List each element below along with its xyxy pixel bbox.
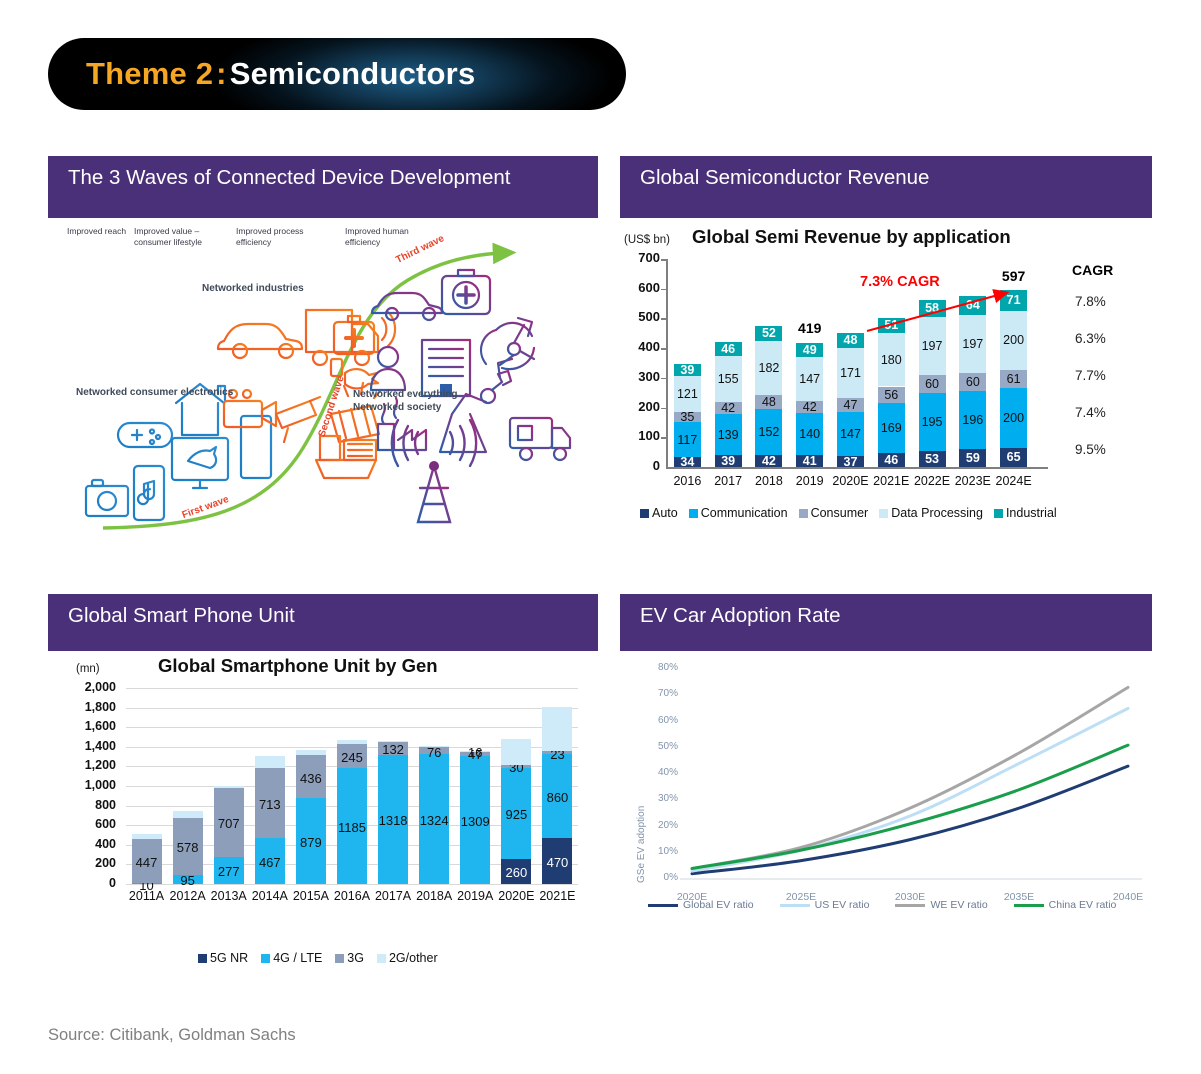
phone-seg-label-2016A-2: 245 bbox=[330, 750, 374, 765]
title-colon: : bbox=[213, 56, 230, 91]
phone-ytick-0: 0 bbox=[60, 876, 116, 890]
phone-legend-label-3: 2G/other bbox=[389, 951, 438, 965]
phone-seg-label-2014A-2: 713 bbox=[248, 797, 292, 812]
semi-legend-item-3: Data Processing bbox=[879, 506, 983, 520]
phone-legend-swatch-1 bbox=[261, 954, 270, 963]
title-theme: Theme 2 bbox=[86, 56, 213, 91]
semi-chart: (US$ bn) Global Semi Revenue by applicat… bbox=[620, 218, 1152, 548]
ev-legend-item-1: US EV ratio bbox=[780, 899, 870, 911]
phone-seg-label-2017A-1: 1318 bbox=[371, 813, 415, 828]
wave-caption-0: Improved reach bbox=[67, 226, 129, 237]
semi-legend-label-1: Communication bbox=[701, 506, 788, 520]
ev-legend-swatch-3 bbox=[1014, 904, 1044, 907]
phone-seg-2015A-3[interactable] bbox=[296, 750, 326, 755]
semi-legend-item-4: Industrial bbox=[994, 506, 1057, 520]
ev-line-1 bbox=[692, 708, 1128, 871]
semi-cagr-value-2: 7.7% bbox=[1075, 368, 1106, 383]
phone-legend-swatch-3 bbox=[377, 954, 386, 963]
wave-caption-2: Improved process efficiency bbox=[236, 226, 316, 248]
phone-seg-2016A-3[interactable] bbox=[337, 740, 367, 743]
ev-legend-swatch-1 bbox=[780, 904, 810, 907]
phone-bar-2020E[interactable]: 26092530 bbox=[501, 688, 531, 884]
ev-line-2 bbox=[692, 687, 1128, 868]
phone-ytick-7: 1,400 bbox=[60, 739, 116, 753]
semi-legend-label-0: Auto bbox=[652, 506, 678, 520]
panel-phone-header: Global Smart Phone Unit bbox=[48, 594, 598, 651]
phone-seg-2014A-3[interactable] bbox=[255, 756, 285, 769]
panel-waves: The 3 Waves of Connected Device Developm… bbox=[48, 156, 598, 558]
panel-semi-header: Global Semiconductor Revenue bbox=[620, 156, 1152, 218]
phone-ytick-6: 1,200 bbox=[60, 758, 116, 772]
page-title: Theme 2:Semiconductors bbox=[86, 56, 475, 92]
phone-bar-2013A[interactable]: 277707 bbox=[214, 688, 244, 884]
phone-bar-2016A[interactable]: 1185245 bbox=[337, 688, 367, 884]
panel-ev-header: EV Car Adoption Rate bbox=[620, 594, 1152, 651]
phone-legend-label-0: 5G NR bbox=[210, 951, 248, 965]
phone-seg-label-2018A-1: 1324 bbox=[412, 813, 456, 828]
phone-seg-label-2012A-2: 578 bbox=[166, 840, 210, 855]
wave-group-label-0: Networked consumer electronics bbox=[76, 386, 233, 399]
title-subject: Semiconductors bbox=[230, 56, 476, 91]
phone-bar-2018A[interactable]: 132476 bbox=[419, 688, 449, 884]
phone-bar-2019A[interactable]: 13094716 bbox=[460, 688, 490, 884]
phone-seg-label-2013A-1: 277 bbox=[207, 864, 251, 879]
ev-legend-item-2: WE EV ratio bbox=[895, 899, 987, 911]
phone-seg-label-2011A-2: 447 bbox=[125, 855, 169, 870]
semi-total-2024E: 597 bbox=[992, 268, 1035, 284]
semi-legend-label-2: Consumer bbox=[811, 506, 869, 520]
semi-cagr-annotation: 7.3% CAGR bbox=[860, 274, 940, 290]
phone-bar-2015A[interactable]: 879436 bbox=[296, 688, 326, 884]
phone-seg-label-2020E-0: 260 bbox=[494, 865, 538, 880]
semi-legend-label-3: Data Processing bbox=[891, 506, 983, 520]
waves-diagram: Improved reach Improved value – consumer… bbox=[48, 218, 598, 558]
phone-legend-item-2: 3G bbox=[335, 951, 364, 965]
ev-legend-label-3: China EV ratio bbox=[1049, 899, 1117, 911]
phone-legend-swatch-2 bbox=[335, 954, 344, 963]
phone-unit-label: (mn) bbox=[76, 663, 100, 675]
phone-bar-2011A[interactable]: 10447 bbox=[132, 688, 162, 884]
phone-seg-2013A-3[interactable] bbox=[214, 786, 244, 788]
phone-ytick-5: 1,000 bbox=[60, 778, 116, 792]
semi-cagr-value-3: 7.4% bbox=[1075, 405, 1106, 420]
ev-legend-label-1: US EV ratio bbox=[815, 899, 870, 911]
phone-seg-2011A-3[interactable] bbox=[132, 834, 162, 839]
ev-legend-label-2: WE EV ratio bbox=[930, 899, 987, 911]
source-note: Source: Citibank, Goldman Sachs bbox=[48, 1026, 296, 1045]
semi-legend-item-2: Consumer bbox=[799, 506, 869, 520]
phone-seg-label-2015A-2: 436 bbox=[289, 771, 333, 786]
phone-seg-label-2013A-2: 707 bbox=[207, 816, 251, 831]
phone-seg-2021E-3[interactable] bbox=[542, 707, 572, 752]
phone-ytick-2: 400 bbox=[60, 837, 116, 851]
panel-smartphone-unit: Global Smart Phone Unit (mn) Global Smar… bbox=[48, 594, 598, 996]
panel-ev-adoption: EV Car Adoption Rate GSe EV adoption 0%1… bbox=[620, 594, 1152, 991]
semi-legend-swatch-1 bbox=[689, 509, 698, 518]
phone-seg-2020E-3[interactable] bbox=[501, 739, 531, 765]
phone-legend-item-0: 5G NR bbox=[198, 951, 248, 965]
phone-seg-label-2021E-1: 860 bbox=[535, 790, 579, 805]
phone-bar-2012A[interactable]: 95578 bbox=[173, 688, 203, 884]
semi-legend: AutoCommunicationConsumerData Processing… bbox=[640, 506, 1057, 520]
phone-legend-item-1: 4G / LTE bbox=[261, 951, 322, 965]
semi-legend-swatch-0 bbox=[640, 509, 649, 518]
phone-seg-label-2020E-1: 925 bbox=[494, 807, 538, 822]
semi-legend-swatch-3 bbox=[879, 509, 888, 518]
ev-legend-swatch-2 bbox=[895, 904, 925, 907]
phone-bar-2014A[interactable]: 467713 bbox=[255, 688, 285, 884]
semi-legend-swatch-2 bbox=[799, 509, 808, 518]
phone-seg-label-2017A-2: 132 bbox=[371, 742, 415, 757]
ev-legend: Global EV ratioUS EV ratioWE EV ratioChi… bbox=[648, 899, 1116, 911]
phone-seg-label-2016A-1: 1185 bbox=[330, 820, 374, 835]
ev-plot-area bbox=[620, 651, 1152, 911]
phone-seg-label-2014A-1: 467 bbox=[248, 855, 292, 870]
phone-legend-label-2: 3G bbox=[347, 951, 364, 965]
ev-legend-item-3: China EV ratio bbox=[1014, 899, 1117, 911]
wave-group-label-2: Networked everything Networked society bbox=[353, 388, 481, 414]
phone-ytick-1: 200 bbox=[60, 856, 116, 870]
phone-legend-swatch-0 bbox=[198, 954, 207, 963]
semi-cagr-header: CAGR bbox=[1072, 262, 1113, 278]
phone-seg-label-2019A-3: 16 bbox=[453, 745, 497, 760]
semi-cagr-value-4: 9.5% bbox=[1075, 442, 1106, 457]
phone-seg-label-2012A-1: 95 bbox=[166, 873, 210, 888]
semi-legend-item-1: Communication bbox=[689, 506, 788, 520]
phone-legend-label-1: 4G / LTE bbox=[273, 951, 322, 965]
phone-bar-2017A[interactable]: 1318132 bbox=[378, 688, 408, 884]
wave-group-label-1: Networked industries bbox=[202, 282, 304, 295]
ev-chart: GSe EV adoption 0%10%20%30%40%50%60%70%8… bbox=[620, 651, 1152, 991]
phone-ytick-3: 600 bbox=[60, 817, 116, 831]
phone-seg-2017A-3[interactable] bbox=[378, 741, 408, 742]
wave-caption-3: Improved human efficiency bbox=[345, 226, 425, 248]
semi-legend-swatch-4 bbox=[994, 509, 1003, 518]
phone-chart-title: Global Smartphone Unit by Gen bbox=[158, 655, 438, 677]
title-banner: Theme 2:Semiconductors bbox=[48, 38, 626, 110]
phone-seg-label-2015A-1: 879 bbox=[289, 835, 333, 850]
phone-bar-2021E[interactable]: 47086023 bbox=[542, 688, 572, 884]
wave-caption-1: Improved value – consumer lifestyle bbox=[134, 226, 232, 248]
phone-seg-label-2019A-1: 1309 bbox=[453, 814, 497, 829]
phone-ytick-8: 1,600 bbox=[60, 719, 116, 733]
phone-legend-item-3: 2G/other bbox=[377, 951, 438, 965]
semi-legend-label-4: Industrial bbox=[1006, 506, 1057, 520]
phone-ytick-10: 2,000 bbox=[60, 680, 116, 694]
phone-xtick-2021E: 2021E bbox=[533, 889, 582, 903]
phone-seg-2012A-3[interactable] bbox=[173, 811, 203, 818]
panel-semiconductor-revenue: Global Semiconductor Revenue (US$ bn) Gl… bbox=[620, 156, 1152, 548]
phone-ytick-4: 800 bbox=[60, 798, 116, 812]
phone-legend: 5G NR4G / LTE3G2G/other bbox=[198, 951, 438, 965]
phone-chart: (mn) Global Smartphone Unit by Gen 02004… bbox=[48, 651, 598, 996]
semi-total-2019: 419 bbox=[788, 320, 831, 336]
phone-ytick-9: 1,800 bbox=[60, 700, 116, 714]
semi-cagr-value-0: 7.8% bbox=[1075, 294, 1106, 309]
phone-plot-area: 1044795578277707467713879436118524513181… bbox=[126, 688, 578, 884]
phone-seg-label-2021E-0: 470 bbox=[535, 855, 579, 870]
semi-legend-item-0: Auto bbox=[640, 506, 678, 520]
ev-legend-item-0: Global EV ratio bbox=[648, 899, 754, 911]
panel-waves-header: The 3 Waves of Connected Device Developm… bbox=[48, 156, 598, 218]
ev-legend-label-0: Global EV ratio bbox=[683, 899, 754, 911]
ev-legend-swatch-0 bbox=[648, 904, 678, 907]
semi-cagr-value-1: 6.3% bbox=[1075, 331, 1106, 346]
